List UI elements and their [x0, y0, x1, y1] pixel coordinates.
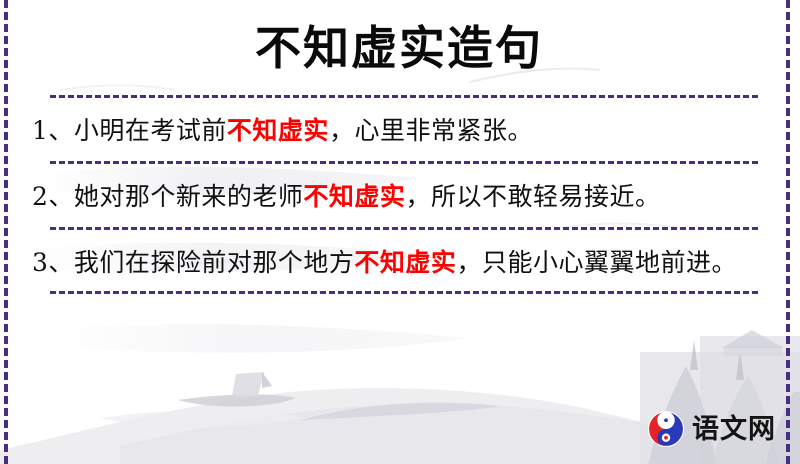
frame-right-dashed-border — [786, 0, 790, 464]
sentence-3-index: 3、 — [32, 248, 74, 277]
sentence-3-after: ，只能小心翼翼地前进。 — [456, 248, 737, 277]
sentence-2-after: ，所以不敢轻易接近。 — [405, 182, 660, 211]
sentence-item-3: 3、我们在探险前对那个地方不知虚实，只能小心翼翼地前进。 — [16, 230, 782, 291]
sentence-2-index: 2、 — [32, 182, 74, 211]
sentence-3-before: 我们在探险前对那个地方 — [74, 248, 355, 277]
content-column: 不知虚实造句 1、小明在考试前不知虚实，心里非常紧张。 2、她对那个新来的老师不… — [0, 0, 800, 464]
site-logo-text: 语文网 — [692, 416, 776, 443]
worksheet-page: 不知虚实造句 1、小明在考试前不知虚实，心里非常紧张。 2、她对那个新来的老师不… — [0, 0, 800, 464]
sentence-1-after: ，心里非常紧张。 — [329, 116, 533, 145]
sentence-2-before: 她对那个新来的老师 — [74, 182, 304, 211]
sentence-item-2: 2、她对那个新来的老师不知虚实，所以不敢轻易接近。 — [16, 164, 782, 227]
sentence-1-before: 小明在考试前 — [74, 116, 227, 145]
page-title: 不知虚实造句 — [16, 0, 782, 78]
sentence-1-keyword: 不知虚实 — [227, 116, 329, 145]
sentence-1-index: 1、 — [32, 116, 74, 145]
sentence-2-keyword: 不知虚实 — [303, 182, 405, 211]
yin-yang-fish-logo-icon — [647, 410, 685, 448]
site-logo: 语文网 — [647, 410, 776, 448]
sentence-item-1: 1、小明在考试前不知虚实，心里非常紧张。 — [16, 98, 782, 161]
divider-rule-4 — [50, 291, 758, 294]
frame-left-dashed-border — [4, 0, 8, 464]
sentence-3-keyword: 不知虚实 — [354, 248, 456, 277]
